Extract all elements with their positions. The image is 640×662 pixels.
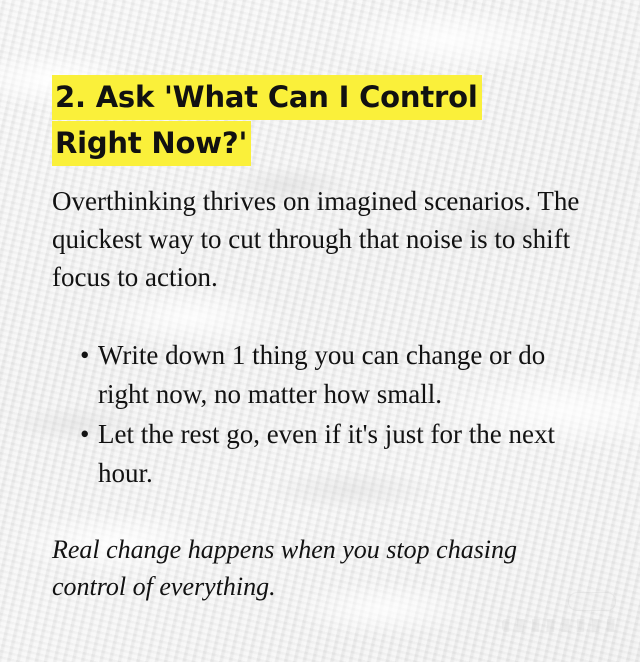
- poster-page: 2. Ask 'What Can I ControlRight Now?' Ov…: [0, 0, 640, 662]
- list-item: •Write down 1 thing you can change or do…: [52, 336, 597, 414]
- intro-paragraph: Overthinking thrives on imagined scenari…: [52, 182, 592, 296]
- bullet-marker: •: [80, 336, 89, 375]
- page-title-line-1: 2. Ask 'What Can I Control: [52, 75, 482, 120]
- closing-statement: Real change happens when you stop chasin…: [52, 531, 592, 605]
- list-item-text: Let the rest go, even if it's just for t…: [98, 419, 555, 488]
- list-item: •Let the rest go, even if it's just for …: [52, 415, 597, 493]
- page-title-line-2: Right Now?': [52, 121, 251, 166]
- page-title: 2. Ask 'What Can I ControlRight Now?': [52, 74, 612, 166]
- watermark-text-smear: [502, 619, 620, 632]
- advice-list: •Write down 1 thing you can change or do…: [52, 336, 597, 494]
- bullet-marker: •: [80, 415, 89, 454]
- list-item-text: Write down 1 thing you can change or do …: [98, 340, 545, 409]
